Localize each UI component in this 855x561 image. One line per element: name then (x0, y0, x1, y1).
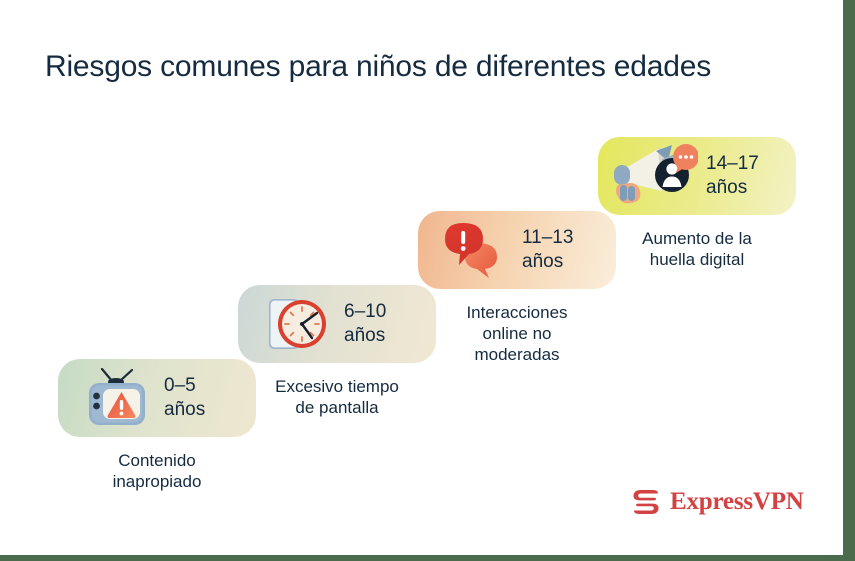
speech-bubbles-alert-icon (436, 211, 514, 289)
step-card-11-13: 11–13 años Interacciones online no moder… (418, 211, 616, 365)
step-card-0-5: 0–5 años Contenido inapropiado (58, 359, 256, 492)
step-card-body: 14–17 años (598, 137, 796, 215)
tv-warning-icon (78, 359, 156, 437)
megaphone-profile-icon (606, 137, 698, 215)
bottom-frame-band (0, 555, 855, 561)
page-title: Riesgos comunes para niños de diferentes… (45, 50, 711, 84)
step-card-6-10: 6–10 años Excesivo tiempo de pantalla (238, 285, 436, 418)
infographic-page: Riesgos comunes para niños de diferentes… (0, 0, 855, 561)
step-description-label: Aumento de la huella digital (598, 228, 796, 270)
step-age-label: 11–13 años (522, 226, 573, 274)
phone-clock-icon (258, 285, 336, 363)
expressvpn-mark-icon (631, 487, 661, 517)
step-description-label: Interacciones online no moderadas (418, 302, 616, 365)
step-card-body: 6–10 años (238, 285, 436, 363)
expressvpn-wordmark: ExpressVPN (670, 488, 804, 516)
step-age-label: 14–17 años (706, 152, 759, 200)
step-age-label: 6–10 años (344, 300, 386, 348)
step-card-body: 11–13 años (418, 211, 616, 289)
step-description-label: Excesivo tiempo de pantalla (238, 376, 436, 418)
step-age-label: 0–5 años (164, 374, 205, 422)
right-frame-band (843, 0, 855, 561)
step-description-label: Contenido inapropiado (58, 450, 256, 492)
expressvpn-logo: ExpressVPN (631, 487, 804, 517)
step-card-body: 0–5 años (58, 359, 256, 437)
step-card-14-17: 14–17 años Aumento de la huella digital (598, 137, 796, 270)
